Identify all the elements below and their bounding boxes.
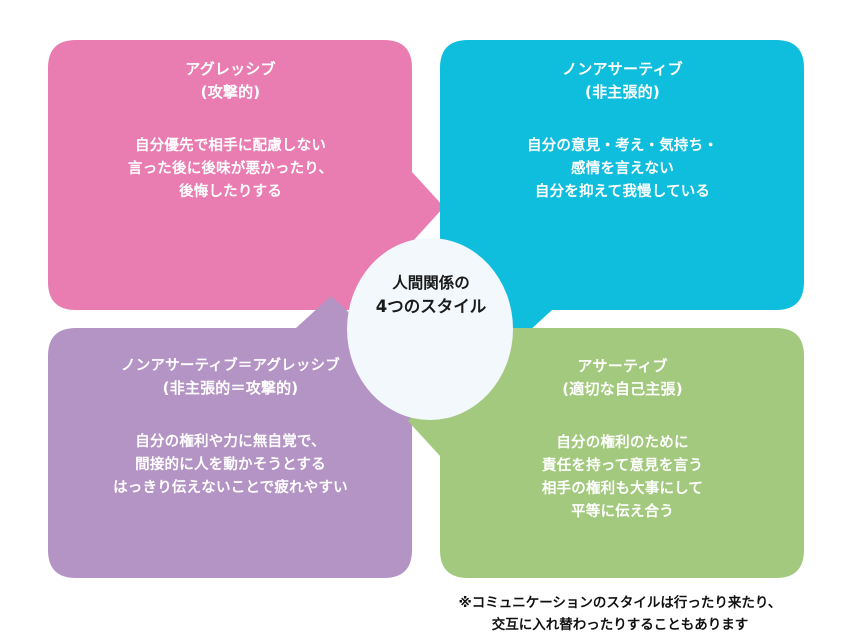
panel-body-line: 責任を持って意見を言う: [440, 455, 805, 478]
footnote-line-1: ※コミュニケーションのスタイルは行ったり来たり、: [396, 592, 844, 614]
panel-body-assertive: 自分の権利のために 責任を持って意見を言う 相手の権利も大事にして 平等に伝え合…: [440, 432, 805, 525]
panel-title-assertive: アサーティブ: [440, 355, 805, 378]
panel-body-line: はっきり伝えないことで疲れやすい: [48, 477, 413, 500]
center-bubble-label: 人間関係の 4つのスタイル: [348, 272, 514, 320]
spacer: [48, 401, 413, 431]
panel-body-line: 間接的に人を動かそうとする: [48, 454, 413, 477]
spacer: [440, 402, 805, 432]
panel-subtitle-assertive: (適切な自己主張): [440, 378, 805, 401]
panel-subtitle-non-assertive-aggressive: (非主張的＝攻撃的): [48, 377, 413, 400]
panel-text-aggressive: アグレッシブ (攻撃的) 自分優先で相手に配慮しない 言った後に後味が悪かったり…: [48, 58, 413, 204]
panel-subtitle-aggressive: (攻撃的): [48, 81, 413, 104]
panel-body-aggressive: 自分優先で相手に配慮しない 言った後に後味が悪かったり、 後悔したりする: [48, 135, 413, 205]
footnote-line-2: 交互に入れ替わったりすることもあります: [396, 614, 844, 636]
diagram-canvas: アグレッシブ (攻撃的) 自分優先で相手に配慮しない 言った後に後味が悪かったり…: [0, 0, 851, 639]
panel-text-non-assertive-aggressive: ノンアサーティブ＝アグレッシブ (非主張的＝攻撃的) 自分の権利や力に無自覚で、…: [48, 355, 413, 500]
center-label-line-2: 4つのスタイル: [348, 295, 514, 320]
footnote: ※コミュニケーションのスタイルは行ったり来たり、 交互に入れ替わったりすることも…: [396, 592, 844, 637]
panel-body-line: 自分の権利や力に無自覚で、: [48, 431, 413, 454]
panel-subtitle-non-assertive: (非主張的): [440, 81, 805, 104]
spacer: [48, 105, 413, 135]
panel-body-line: 言った後に後味が悪かったり、: [48, 158, 413, 181]
panel-title-aggressive: アグレッシブ: [48, 58, 413, 81]
panel-body-line: 平等に伝え合う: [440, 501, 805, 524]
panel-title-non-assertive: ノンアサーティブ: [440, 58, 805, 81]
panel-body-line: 自分を抑えて我慢している: [440, 181, 805, 204]
panel-body-line: 自分の意見・考え・気持ち・: [440, 135, 805, 158]
panel-title-non-assertive-aggressive: ノンアサーティブ＝アグレッシブ: [48, 355, 413, 377]
panel-body-line: 後悔したりする: [48, 181, 413, 204]
panel-body-line: 自分の権利のために: [440, 432, 805, 455]
panel-text-non-assertive: ノンアサーティブ (非主張的) 自分の意見・考え・気持ち・ 感情を言えない 自分…: [440, 58, 805, 204]
center-label-line-1: 人間関係の: [348, 272, 514, 295]
panel-body-non-assertive: 自分の意見・考え・気持ち・ 感情を言えない 自分を抑えて我慢している: [440, 135, 805, 205]
panel-body-line: 相手の権利も大事にして: [440, 478, 805, 501]
panel-body-line: 自分優先で相手に配慮しない: [48, 135, 413, 158]
panel-body-line: 感情を言えない: [440, 158, 805, 181]
panel-text-assertive: アサーティブ (適切な自己主張) 自分の権利のために 責任を持って意見を言う 相…: [440, 355, 805, 524]
panel-body-non-assertive-aggressive: 自分の権利や力に無自覚で、 間接的に人を動かそうとする はっきり伝えないことで疲…: [48, 431, 413, 501]
spacer: [440, 105, 805, 135]
